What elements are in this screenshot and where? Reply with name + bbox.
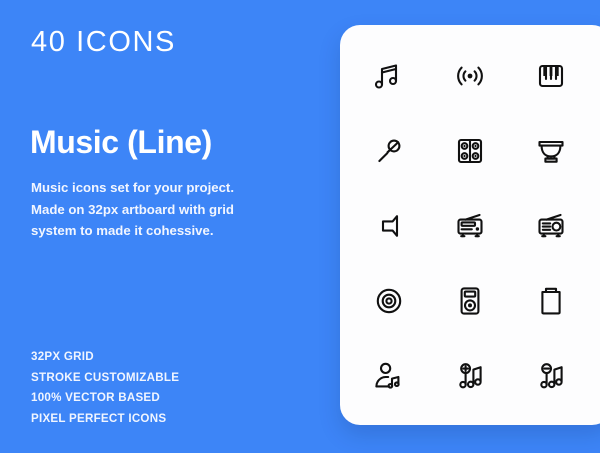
- conga-drum-icon: [511, 263, 592, 338]
- radio-dial-icon: [511, 189, 592, 264]
- description-line: system to made it cohessive.: [31, 220, 306, 242]
- remove-music-icon: [511, 338, 592, 413]
- description-text: Music icons set for your project. Made o…: [31, 177, 306, 242]
- icon-showcase-card: [340, 25, 600, 425]
- user-music-icon: [348, 338, 429, 413]
- feature-list-item: STROKE CUSTOMIZABLE: [31, 368, 179, 389]
- feature-list-item: 100% VECTOR BASED: [31, 388, 179, 409]
- icon-count-label: 40 ICONS: [31, 26, 176, 59]
- timpani-drum-icon: [511, 114, 592, 189]
- music-note-icon: [348, 39, 429, 114]
- mp3-player-icon: [429, 263, 510, 338]
- radio-icon: [429, 189, 510, 264]
- feature-list-item: PIXEL PERFECT ICONS: [31, 409, 179, 430]
- poster-canvas: 40 ICONS Music (Line) Music icons set fo…: [0, 0, 600, 453]
- broadcast-signal-icon: [429, 39, 510, 114]
- icon-grid: [340, 25, 600, 425]
- compact-disc-icon: [348, 263, 429, 338]
- feature-list: 32PX GRID STROKE CUSTOMIZABLE 100% VECTO…: [31, 347, 179, 429]
- add-music-icon: [429, 338, 510, 413]
- feature-list-item: 32PX GRID: [31, 347, 179, 368]
- description-line: Made on 32px artboard with grid: [31, 199, 306, 221]
- left-info-panel: 40 ICONS Music (Line) Music icons set fo…: [0, 0, 340, 453]
- description-line: Music icons set for your project.: [31, 177, 306, 199]
- horn-speaker-icon: [348, 189, 429, 264]
- page-title: Music (Line): [30, 124, 212, 161]
- speaker-cabinet-icon: [429, 114, 510, 189]
- piano-keyboard-icon: [511, 39, 592, 114]
- microphone-icon: [348, 114, 429, 189]
